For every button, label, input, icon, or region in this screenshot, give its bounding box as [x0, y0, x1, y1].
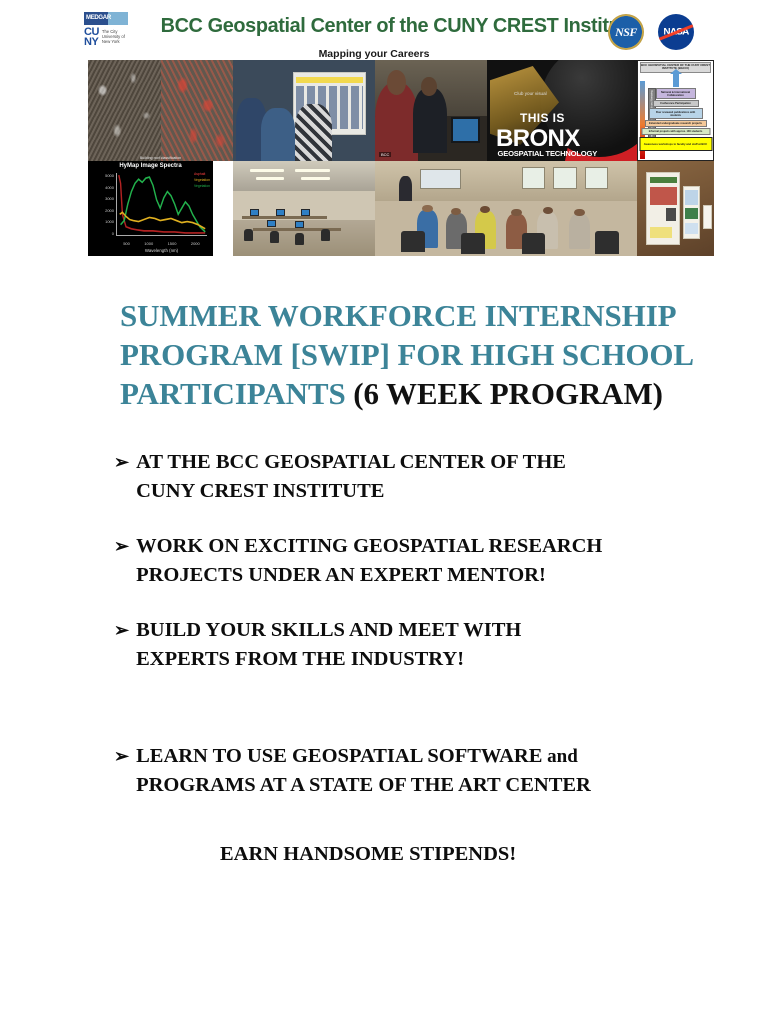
spacer — [114, 506, 714, 532]
list-item-line-2: PROJECTS UNDER AN EXPERT MENTOR! — [136, 564, 546, 586]
bronx-line-1: THIS IS — [520, 111, 565, 125]
x-tick: 1000 — [144, 241, 153, 246]
chart-x-axis-label: Wavelength (nm) — [116, 248, 207, 253]
flyer-title-band — [650, 187, 677, 205]
ceiling-light — [250, 169, 284, 172]
nsf-logo-icon: NSF — [608, 14, 644, 50]
window — [585, 167, 609, 190]
bronx-line-3: GEOSPATIAL TECHNOLOGY — [498, 149, 598, 158]
banner-title: BCC Geospatial Center of the CUNY CREST … — [161, 14, 588, 38]
y-tick: 0 — [112, 231, 114, 236]
projection-screen — [420, 169, 462, 190]
aerial-caption: Building roof classification — [88, 156, 233, 160]
list-item-line-2: EXPERTS FROM THE INDUSTRY! — [136, 648, 464, 670]
chart-x-ticks: 500 1000 1500 2000 — [116, 241, 207, 246]
header-banner: MEDGAR EVERS CUNY The City University of… — [80, 8, 715, 60]
brochure — [703, 205, 712, 230]
flyer-photo — [666, 208, 676, 221]
ceiling-light — [295, 169, 329, 172]
presenter-figure — [399, 176, 412, 201]
pyramid-tier: Peer reviewed publications with students — [649, 108, 703, 119]
pyramid-tier: Conference Participation — [653, 100, 699, 107]
arrow-bullet-icon: ➢ — [114, 448, 129, 477]
x-tick: 500 — [123, 241, 130, 246]
brochure — [683, 186, 700, 239]
benefits-list: ➢ AT THE BCC GEOSPATIAL CENTER OF THE CU… — [114, 448, 714, 869]
office-chair — [401, 231, 425, 252]
arrow-bullet-icon: ➢ — [114, 532, 129, 561]
cuny-logo-mark: CUNY — [84, 28, 99, 47]
photo-collage: Building roof classification HyMap Image… — [88, 60, 714, 256]
aerial-imagery-photo: Building roof classification — [88, 60, 233, 161]
office-chair — [244, 229, 253, 241]
brochure-section — [685, 190, 698, 205]
page-title: SUMMER WORKFORCE INTERNSHIP PROGRAM [SWI… — [120, 296, 700, 413]
cuny-logo-subtitle: The City University of New York — [102, 29, 128, 44]
bronx-small-line: Club your visual — [514, 91, 547, 96]
student-figure — [375, 82, 418, 161]
pyramid-tier: National & International Collaboration — [656, 88, 696, 99]
lab-photo-badge: BCC — [379, 152, 391, 157]
legend-item: Vegetation — [193, 178, 211, 182]
list-item-text: AT THE BCC GEOSPATIAL CENTER OF THE CUNY… — [136, 448, 714, 506]
flyer-footer-band — [650, 227, 672, 238]
arrow-bullet-icon: ➢ — [114, 616, 129, 645]
office-chair — [461, 233, 485, 254]
brochure-section — [685, 208, 698, 219]
office-chair — [321, 229, 330, 241]
list-item-line-1: AT THE BCC GEOSPATIAL CENTER OF THE — [136, 451, 566, 473]
office-chair — [522, 233, 546, 254]
spacer — [114, 590, 714, 616]
pyramid-tier: Informal projects with approx. 130 stude… — [641, 128, 710, 135]
office-chair — [270, 231, 279, 243]
closing-statement: EARN HANDSOME STIPENDS! — [220, 840, 714, 869]
brochure-section — [685, 223, 698, 234]
computer-monitor — [451, 117, 480, 143]
list-item-line-1: BUILD YOUR SKILLS AND MEET WITH — [136, 619, 521, 641]
x-tick: 1500 — [168, 241, 177, 246]
page-title-duration: (6 WEEK PROGRAM) — [353, 376, 663, 411]
window — [553, 167, 577, 190]
program-flyer — [646, 172, 680, 244]
list-item: ➢ WORK ON EXCITING GEOSPATIAL RESEARCH P… — [114, 532, 714, 590]
list-item: ➢ AT THE BCC GEOSPATIAL CENTER OF THE CU… — [114, 448, 714, 506]
lab-desk — [242, 216, 327, 219]
list-item-line-1: WORK ON EXCITING GEOSPATIAL RESEARCH — [136, 535, 602, 557]
x-tick: 2000 — [191, 241, 200, 246]
bgcci-pyramid-diagram: BCC GEOSPATIAL CENTER OF THE CUNY CREST … — [637, 60, 714, 161]
classroom-audience-photo — [375, 161, 637, 256]
aerial-raw-image — [88, 60, 161, 161]
audience-head — [574, 209, 584, 217]
computer-lab-photo — [233, 161, 375, 256]
flyer-header-band — [650, 177, 677, 183]
upward-arrow-icon — [673, 74, 679, 87]
brochures-photo — [637, 161, 714, 256]
chart-y-ticks: 5000 4000 3000 2000 1000 0 — [92, 173, 114, 236]
list-item: ➢ LEARN TO USE GEOSPATIAL SOFTWARE and P… — [114, 742, 714, 800]
legend-item: Asphalt — [193, 172, 211, 176]
legend-item: Vegetation — [193, 184, 211, 188]
y-tick: 3000 — [105, 196, 114, 201]
pyramid-tier: Awareness workshops to faculty and staff… — [639, 137, 712, 151]
computer-monitor — [276, 209, 285, 216]
audience-figure — [569, 214, 590, 249]
list-item-text: LEARN TO USE GEOSPATIAL SOFTWARE and PRO… — [136, 742, 714, 800]
student-figure — [295, 104, 332, 161]
spacer — [114, 674, 714, 742]
list-item-line-2: CUNY CREST INSTITUTE — [136, 480, 384, 502]
this-is-bronx-graphic: Club your visual THIS IS BRONX GEOSPATIA… — [487, 60, 637, 161]
hymap-spectra-chart: HyMap Image Spectra Reflectance (x10000)… — [88, 161, 213, 256]
list-item-line-1: LEARN TO USE GEOSPATIAL SOFTWARE — [136, 745, 542, 767]
medgar-evers-logo: MEDGAR EVERS — [84, 12, 128, 25]
computer-monitor — [250, 209, 259, 216]
poster-session-photo — [233, 60, 375, 161]
office-chair — [595, 231, 619, 254]
pyramid-tier: Extended undergraduate research projects — [645, 120, 707, 127]
ceiling-light — [301, 177, 329, 180]
ceiling-light — [256, 177, 284, 180]
aerial-classified-image — [161, 60, 234, 161]
student-figure — [261, 108, 295, 161]
list-item: ➢ BUILD YOUR SKILLS AND MEET WITH EXPERT… — [114, 616, 714, 674]
y-tick: 5000 — [105, 173, 114, 178]
nasa-logo-icon: NASA — [658, 14, 694, 50]
banner-subtitle: Mapping your Careers — [154, 48, 594, 60]
nsf-logo-text: NSF — [615, 25, 637, 40]
computer-monitor — [301, 209, 310, 216]
audience-head — [511, 209, 521, 217]
y-tick: 2000 — [105, 208, 114, 213]
y-tick: 4000 — [105, 185, 114, 190]
nasa-logo-text: NASA — [663, 27, 688, 37]
list-item-text: BUILD YOUR SKILLS AND MEET WITH EXPERTS … — [136, 616, 714, 674]
list-item-line-1-suffix: and — [542, 746, 577, 767]
instructor-figure — [413, 88, 447, 153]
list-item-line-2: PROGRAMS AT A STATE OF THE ART CENTER — [136, 774, 591, 796]
chart-title: HyMap Image Spectra — [88, 163, 213, 169]
office-chair — [295, 233, 304, 245]
y-tick: 1000 — [105, 219, 114, 224]
window — [522, 167, 546, 190]
audience-head — [422, 205, 432, 213]
cuny-logo: MEDGAR EVERS CUNY The City University of… — [84, 12, 140, 56]
arrow-bullet-icon: ➢ — [114, 742, 129, 771]
students-computer-photo: BCC — [375, 60, 487, 161]
chart-legend: Asphalt Vegetation Vegetation — [193, 172, 211, 188]
computer-monitor — [295, 221, 304, 228]
computer-monitor — [267, 220, 276, 227]
list-item-text: WORK ON EXCITING GEOSPATIAL RESEARCH PRO… — [136, 532, 714, 590]
